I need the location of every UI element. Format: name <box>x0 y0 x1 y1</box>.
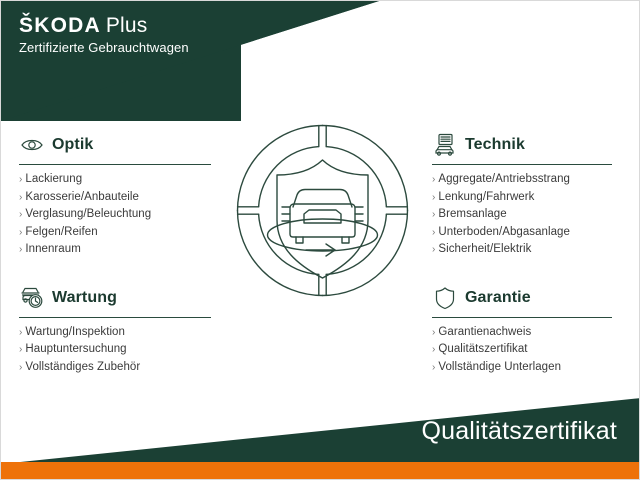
section-optik-divider <box>19 164 211 165</box>
brand-tagline: Zertifizierte Gebrauchtwagen <box>19 39 189 56</box>
list-item-label: Aggregate/Antriebsstrang <box>438 173 570 185</box>
section-optik-header: Optik <box>19 131 214 159</box>
section-technik-title: Technik <box>465 136 525 154</box>
list-item: ›Garantienachweis <box>432 324 632 342</box>
chevron-right-icon: › <box>432 362 435 373</box>
certified-vehicle-emblem <box>234 122 411 299</box>
list-item: ›Verglasung/Beleuchtung <box>19 206 214 224</box>
chevron-right-icon: › <box>19 227 22 238</box>
list-item-label: Hauptuntersuchung <box>25 343 126 355</box>
section-technik: Technik ›Aggregate/Antriebsstrang ›Lenku… <box>432 131 632 259</box>
chevron-right-icon: › <box>432 244 435 255</box>
list-item: ›Qualitätszertifikat <box>432 341 632 359</box>
list-item-label: Wartung/Inspektion <box>25 326 125 338</box>
chevron-right-icon: › <box>19 192 22 203</box>
list-item: ›Unterboden/Abgasanlage <box>432 224 632 242</box>
list-item-label: Karosserie/Anbauteile <box>25 191 139 203</box>
section-wartung-list: ›Wartung/Inspektion ›Hauptuntersuchung ›… <box>19 324 214 377</box>
list-item-label: Garantienachweis <box>438 326 531 338</box>
left-column: Optik ›Lackierung ›Karosserie/Anbauteile… <box>19 131 214 376</box>
section-wartung: Wartung ›Wartung/Inspektion ›Hauptunters… <box>19 284 214 377</box>
section-wartung-header: Wartung <box>19 284 214 312</box>
list-item-label: Innenraum <box>25 243 80 255</box>
footer-title: Qualitätszertifikat <box>421 417 617 446</box>
shield-icon <box>432 285 458 311</box>
chevron-right-icon: › <box>432 327 435 338</box>
list-item-label: Vollständige Unterlagen <box>438 361 561 373</box>
list-item: ›Felgen/Reifen <box>19 224 214 242</box>
list-item: ›Vollständiges Zubehör <box>19 359 214 377</box>
chevron-right-icon: › <box>19 244 22 255</box>
section-optik-list: ›Lackierung ›Karosserie/Anbauteile ›Verg… <box>19 171 214 259</box>
list-item-label: Lenkung/Fahrwerk <box>438 191 534 203</box>
section-garantie-divider <box>432 317 612 318</box>
chevron-right-icon: › <box>432 227 435 238</box>
section-wartung-divider <box>19 317 211 318</box>
certificate-page: ŠKODAPlus Zertifizierte Gebrauchtwagen <box>0 0 640 480</box>
list-item: ›Innenraum <box>19 241 214 259</box>
list-item: ›Bremsanlage <box>432 206 632 224</box>
list-item-label: Lackierung <box>25 173 82 185</box>
chevron-right-icon: › <box>432 174 435 185</box>
list-item: ›Vollständige Unterlagen <box>432 359 632 377</box>
section-garantie: Garantie ›Garantienachweis ›Qualitätszer… <box>432 284 632 377</box>
list-item: ›Wartung/Inspektion <box>19 324 214 342</box>
chevron-right-icon: › <box>19 362 22 373</box>
right-column: Technik ›Aggregate/Antriebsstrang ›Lenku… <box>432 131 632 376</box>
chevron-right-icon: › <box>19 327 22 338</box>
brand-lockup: ŠKODAPlus Zertifizierte Gebrauchtwagen <box>19 14 189 56</box>
list-item-label: Bremsanlage <box>438 208 506 220</box>
list-item: ›Lenkung/Fahrwerk <box>432 189 632 207</box>
list-item-label: Verglasung/Beleuchtung <box>25 208 151 220</box>
chevron-right-icon: › <box>432 192 435 203</box>
chevron-right-icon: › <box>19 209 22 220</box>
list-item-label: Qualitätszertifikat <box>438 343 527 355</box>
section-wartung-title: Wartung <box>52 289 117 307</box>
list-item: ›Hauptuntersuchung <box>19 341 214 359</box>
chevron-right-icon: › <box>432 209 435 220</box>
list-item-label: Felgen/Reifen <box>25 226 97 238</box>
eye-icon <box>19 132 45 158</box>
section-garantie-list: ›Garantienachweis ›Qualitätszertifikat ›… <box>432 324 632 377</box>
brand-name: ŠKODA <box>19 14 101 37</box>
section-technik-divider <box>432 164 612 165</box>
list-item: ›Lackierung <box>19 171 214 189</box>
section-optik: Optik ›Lackierung ›Karosserie/Anbauteile… <box>19 131 214 259</box>
list-item-label: Sicherheit/Elektrik <box>438 243 531 255</box>
car-clock-icon <box>19 285 45 311</box>
car-lift-icon <box>432 132 458 158</box>
chevron-right-icon: › <box>19 174 22 185</box>
list-item: ›Karosserie/Anbauteile <box>19 189 214 207</box>
chevron-right-icon: › <box>432 344 435 355</box>
list-item-label: Vollständiges Zubehör <box>25 361 140 373</box>
section-optik-title: Optik <box>52 136 93 154</box>
list-item-label: Unterboden/Abgasanlage <box>438 226 570 238</box>
section-technik-list: ›Aggregate/Antriebsstrang ›Lenkung/Fahrw… <box>432 171 632 259</box>
brand-suffix: Plus <box>106 14 148 37</box>
list-item: ›Sicherheit/Elektrik <box>432 241 632 259</box>
brand-title: ŠKODAPlus <box>19 14 189 38</box>
list-item: ›Aggregate/Antriebsstrang <box>432 171 632 189</box>
section-garantie-header: Garantie <box>432 284 632 312</box>
section-technik-header: Technik <box>432 131 632 159</box>
chevron-right-icon: › <box>19 344 22 355</box>
section-garantie-title: Garantie <box>465 289 531 307</box>
orange-accent-bar <box>1 462 640 479</box>
